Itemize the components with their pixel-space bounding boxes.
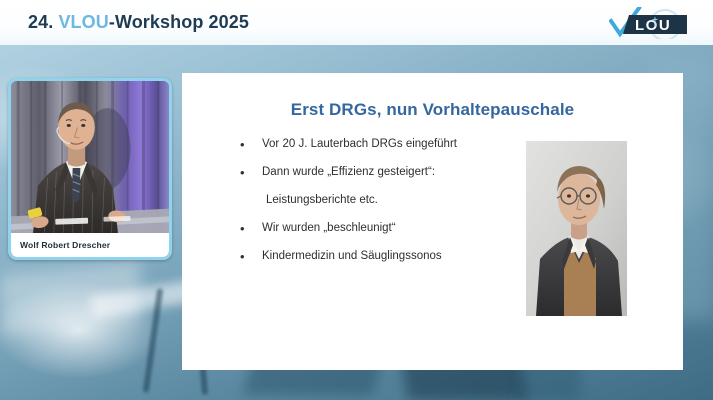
header-title-prefix: 24. [28,12,58,32]
list-item-label: Vor 20 J. Lauterbach DRGs eingeführt [262,135,457,154]
presentation-slide-view: 24. VLOU-Workshop 2025 LOU Erst DRGs, nu… [0,0,713,400]
speaker-name-label: Wolf Robert Drescher [11,233,169,257]
speaker-video-tile[interactable]: Wolf Robert Drescher [8,78,172,260]
video-frame [11,81,169,257]
slide-bullet-list: • Vor 20 J. Lauterbach DRGs eingeführt •… [240,135,530,275]
header-bar: 24. VLOU-Workshop 2025 LOU [0,0,713,45]
list-item-label: Kindermedizin und Säuglingssonos [262,247,442,266]
header-title-accent: VLOU [58,12,108,32]
list-item: • Wir wurden „beschleunigt“ [240,219,530,238]
list-item: • Dann wurde „Effizienz gesteigert“: [240,163,530,182]
list-item: • Vor 20 J. Lauterbach DRGs eingeführt [240,135,530,154]
slide-content-card: Erst DRGs, nun Vorhaltepauschale • Vor 2… [182,73,683,370]
list-item-label: Leistungsberichte etc. [262,191,378,210]
header-title-suffix: -Workshop 2025 [109,12,249,32]
list-item-label: Wir wurden „beschleunigt“ [262,219,396,238]
lauterbach-portrait-photo [526,141,627,316]
bullet-marker-icon: • [240,247,262,266]
bullet-marker-icon: • [240,163,262,182]
list-item: • Kindermedizin und Säuglingssonos [240,247,530,266]
vlou-logo: LOU [609,7,691,39]
bullet-marker-icon: • [240,219,262,238]
list-item-label: Dann wurde „Effizienz gesteigert“: [262,163,435,182]
list-item: • Leistungsberichte etc. [240,191,530,210]
slide-title: Erst DRGs, nun Vorhaltepauschale [182,100,683,120]
bullet-marker-icon: • [240,135,262,154]
page-title: 24. VLOU-Workshop 2025 [28,12,249,33]
